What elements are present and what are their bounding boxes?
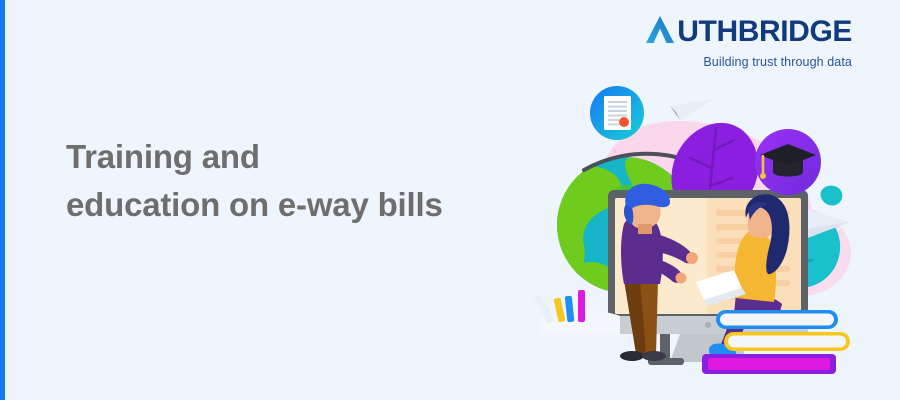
- book-stack: [702, 310, 850, 374]
- logo-wordmark: UTHBRIDGE: [645, 14, 852, 49]
- left-accent-bar: [0, 0, 5, 400]
- book-blue: [716, 310, 838, 329]
- pencil-magenta: [578, 290, 585, 322]
- pencil-cup: [534, 290, 620, 334]
- book-magenta: [702, 354, 836, 374]
- teal-accent-dot: [821, 186, 843, 206]
- man-shoe-back: [620, 351, 644, 361]
- monitor-power-dot: [705, 322, 711, 328]
- man-shoe-front: [642, 351, 666, 361]
- page-title-line-1: Training and: [66, 133, 443, 181]
- paper-airplane-small: [670, 98, 716, 120]
- logo-wordmark-text: UTHBRIDGE: [677, 17, 852, 47]
- book-yellow: [724, 332, 850, 351]
- online-learning-illustration: [520, 58, 890, 378]
- certificate-seal: [619, 117, 629, 127]
- man-hand-lower: [676, 273, 687, 284]
- page-title: Training and education on e-way bills: [66, 133, 443, 229]
- page-title-line-2: education on e-way bills: [66, 181, 443, 229]
- chevron-a-icon: [645, 14, 675, 49]
- graduation-cap-tassel-knot: [760, 173, 766, 179]
- promo-banner: UTHBRIDGE Building trust through data Tr…: [0, 0, 900, 400]
- man-neck: [638, 224, 652, 234]
- man-hand-upper: [686, 252, 698, 264]
- certificate-badge: [590, 86, 644, 140]
- graduation-cap-badge: [755, 129, 821, 195]
